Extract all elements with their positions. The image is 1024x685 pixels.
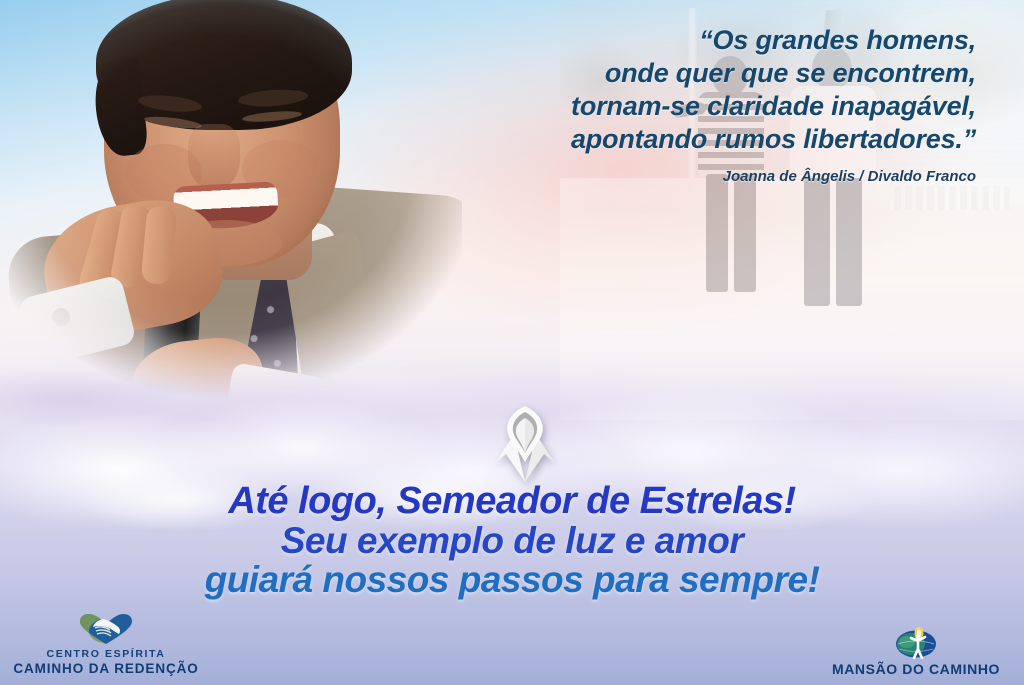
headline-line-1: Até logo, Semeador de Estrelas! [0,482,1024,521]
divaldo-franco-portrait [0,0,462,424]
headline-line-2: Seu exemplo de luz e amor [0,521,1024,560]
headline-line-3: guiará nossos passos para sempre! [0,560,1024,599]
globe-figure-icon [816,625,1016,659]
logo-right-line-2: MANSÃO DO CAMINHO [816,661,1016,677]
logo-centro-espirita: CENTRO ESPÍRITA CAMINHO DA REDENÇÃO [6,612,206,677]
quote-block: “Os grandes homens, onde quer que se enc… [416,24,976,186]
logo-mansao-do-caminho: MANSÃO DO CAMINHO [816,625,1016,677]
quote-line-1: “Os grandes homens, [416,24,976,57]
logo-left-line-1: CENTRO ESPÍRITA [6,648,206,661]
quote-line-2: onde quer que se encontrem, [416,57,976,90]
quote-author: Joanna de Ângelis / Divaldo Franco [416,168,976,186]
quote-line-3: tornam-se claridade inapagável, [416,90,976,123]
white-mourning-ribbon-icon [492,404,558,484]
logo-left-line-2: CAMINHO DA REDENÇÃO [6,661,206,677]
headline-block: Até logo, Semeador de Estrelas! Seu exem… [0,482,1024,599]
quote-line-4: apontando rumos libertadores.” [416,123,976,156]
memorial-poster: “Os grandes homens, onde quer que se enc… [0,0,1024,685]
hands-heart-icon [6,612,206,646]
